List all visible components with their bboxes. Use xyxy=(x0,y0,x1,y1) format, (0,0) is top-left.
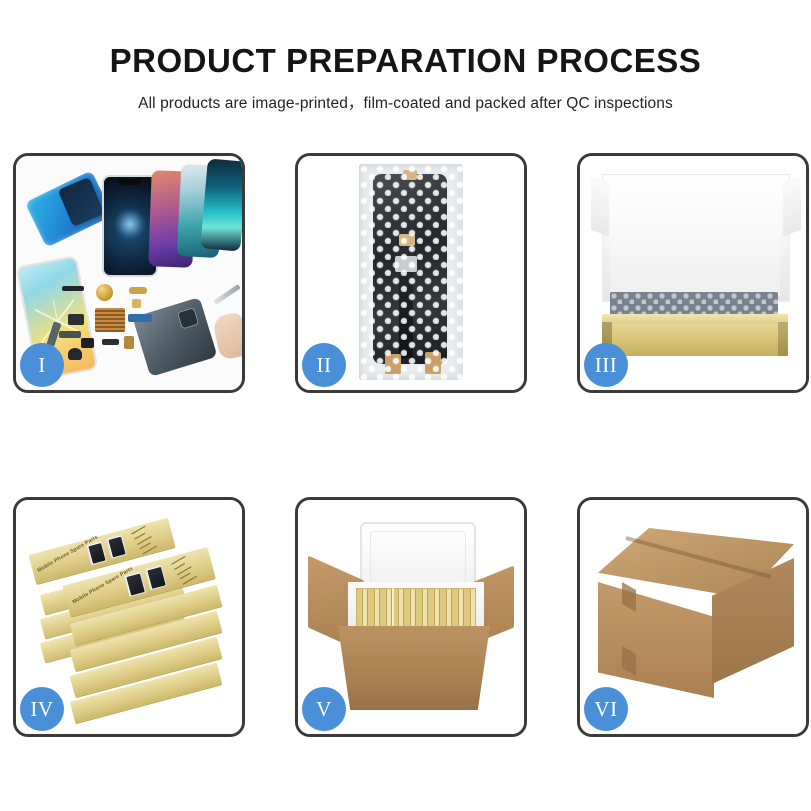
carton-front-face-icon xyxy=(598,582,714,698)
foam-liner-icon xyxy=(610,204,780,296)
part-small-chip-icon xyxy=(81,338,94,348)
box-thumbnail-2b xyxy=(145,565,167,591)
gold-coil-part-icon xyxy=(96,284,113,301)
chip-grid-part-icon xyxy=(95,308,125,332)
product-preparation-infographic: PRODUCT PREPARATION PROCESS All products… xyxy=(0,0,811,811)
step-panel-3: III xyxy=(577,153,809,393)
step-panel-1: I xyxy=(13,153,245,393)
step-badge-5: V xyxy=(302,687,346,731)
box-spec-text-2: ▬▬▬▬▬▬▬▬▬▬▬▬▬▬▬▬▬▬ xyxy=(170,553,198,586)
page-title: PRODUCT PREPARATION PROCESS xyxy=(0,44,811,79)
box-stack: Mobile Phone Spare Parts ▬▬▬▬▬▬▬▬▬▬▬▬▬▬▬… xyxy=(24,518,240,718)
tweezers-icon xyxy=(213,284,241,305)
step-badge-3: III xyxy=(584,343,628,387)
part-bracket-icon xyxy=(102,339,119,345)
page-subtitle: All products are image-printed，film-coat… xyxy=(0,91,811,113)
tray-right-edge xyxy=(778,322,788,356)
gold-box-tray-icon xyxy=(602,322,788,356)
box-thumbnail-2a xyxy=(124,571,146,597)
header: PRODUCT PREPARATION PROCESS All products… xyxy=(0,0,811,113)
box-thumbnail-1b xyxy=(106,534,127,558)
step-panel-2: II xyxy=(295,153,527,393)
packed-gold-boxes-icon xyxy=(356,588,476,630)
step-badge-4: IV xyxy=(20,687,64,731)
blue-phone-screen-icon xyxy=(25,170,113,247)
bubble-wrap-package xyxy=(359,164,463,380)
step-badge-1: I xyxy=(20,343,64,387)
part-blue-ribbon-icon xyxy=(128,314,152,322)
bubble-texture xyxy=(359,164,463,380)
step-badge-6: VI xyxy=(584,687,628,731)
box-spec-text-1: ▬▬▬▬▬▬▬▬▬▬▬▬▬▬▬▬▬▬ xyxy=(130,523,158,556)
part-gold-square-icon xyxy=(132,299,141,308)
part-speaker-icon xyxy=(62,286,84,291)
cyan-phone-icon xyxy=(200,158,242,251)
steps-grid: I II xyxy=(13,153,798,737)
step-panel-6: VI xyxy=(577,497,809,737)
part-gold-pin-icon xyxy=(124,336,134,349)
phone-backplate-icon xyxy=(132,297,217,377)
part-flex-cable-icon xyxy=(59,331,81,338)
step-badge-2: II xyxy=(302,343,346,387)
hand-icon xyxy=(212,311,242,360)
part-camera-module-icon xyxy=(68,314,84,325)
part-button-icon xyxy=(68,348,82,360)
carton-body-icon xyxy=(338,626,490,710)
box-thumbnail-1a xyxy=(86,541,107,565)
step-panel-4: Mobile Phone Spare Parts ▬▬▬▬▬▬▬▬▬▬▬▬▬▬▬… xyxy=(13,497,245,737)
step-panel-5: V xyxy=(295,497,527,737)
part-gold-connector-icon xyxy=(129,287,147,294)
